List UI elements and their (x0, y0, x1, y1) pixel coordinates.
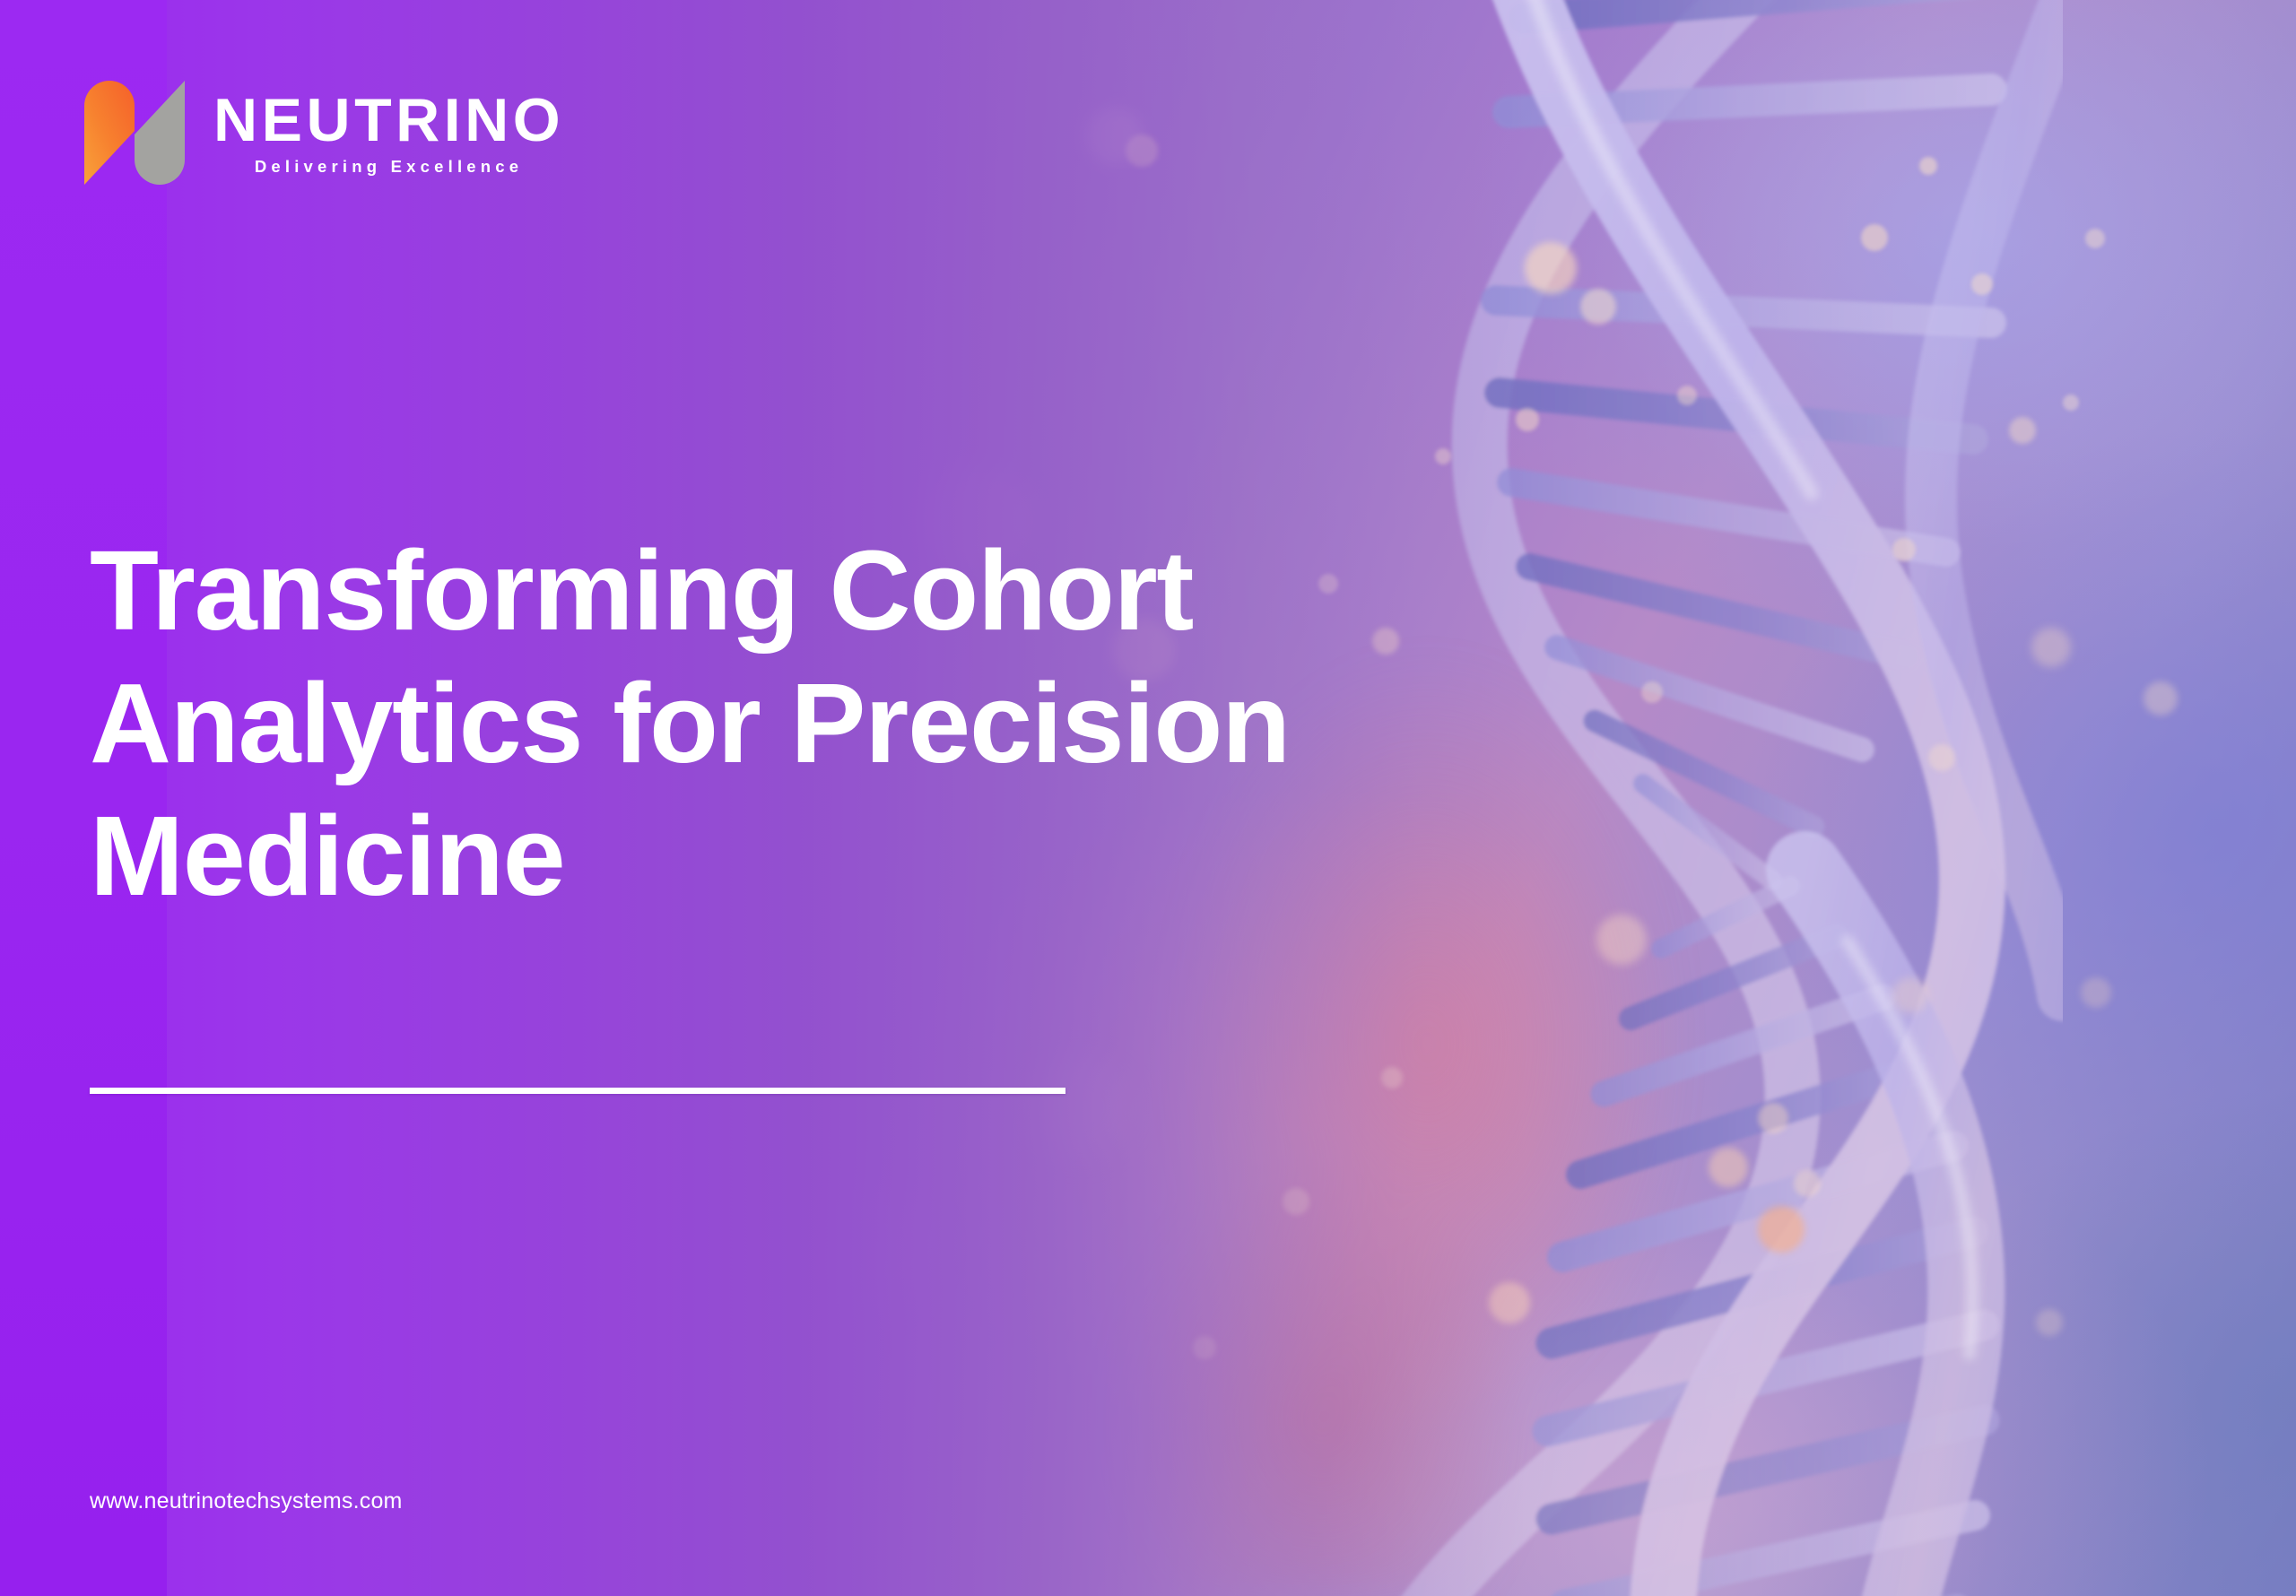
brand-logo-text: NEUTRINO Delivering Excellence (213, 90, 564, 176)
brand-logo[interactable]: NEUTRINO Delivering Excellence (79, 75, 564, 190)
cover-slide: NEUTRINO Delivering Excellence Transform… (0, 0, 2296, 1596)
brand-name: NEUTRINO (213, 90, 564, 151)
footer-website-url[interactable]: www.neutrinotechsystems.com (90, 1488, 403, 1514)
brand-tagline: Delivering Excellence (255, 159, 523, 176)
title-line-1: Transforming Cohort (90, 525, 1345, 657)
slide-title: Transforming Cohort Analytics for Precis… (90, 525, 1345, 923)
title-divider-rule (90, 1088, 1065, 1094)
title-line-3: Medicine (90, 790, 1345, 923)
title-line-2: Analytics for Precision (90, 657, 1345, 790)
neutrino-n-monogram-icon (79, 75, 190, 190)
